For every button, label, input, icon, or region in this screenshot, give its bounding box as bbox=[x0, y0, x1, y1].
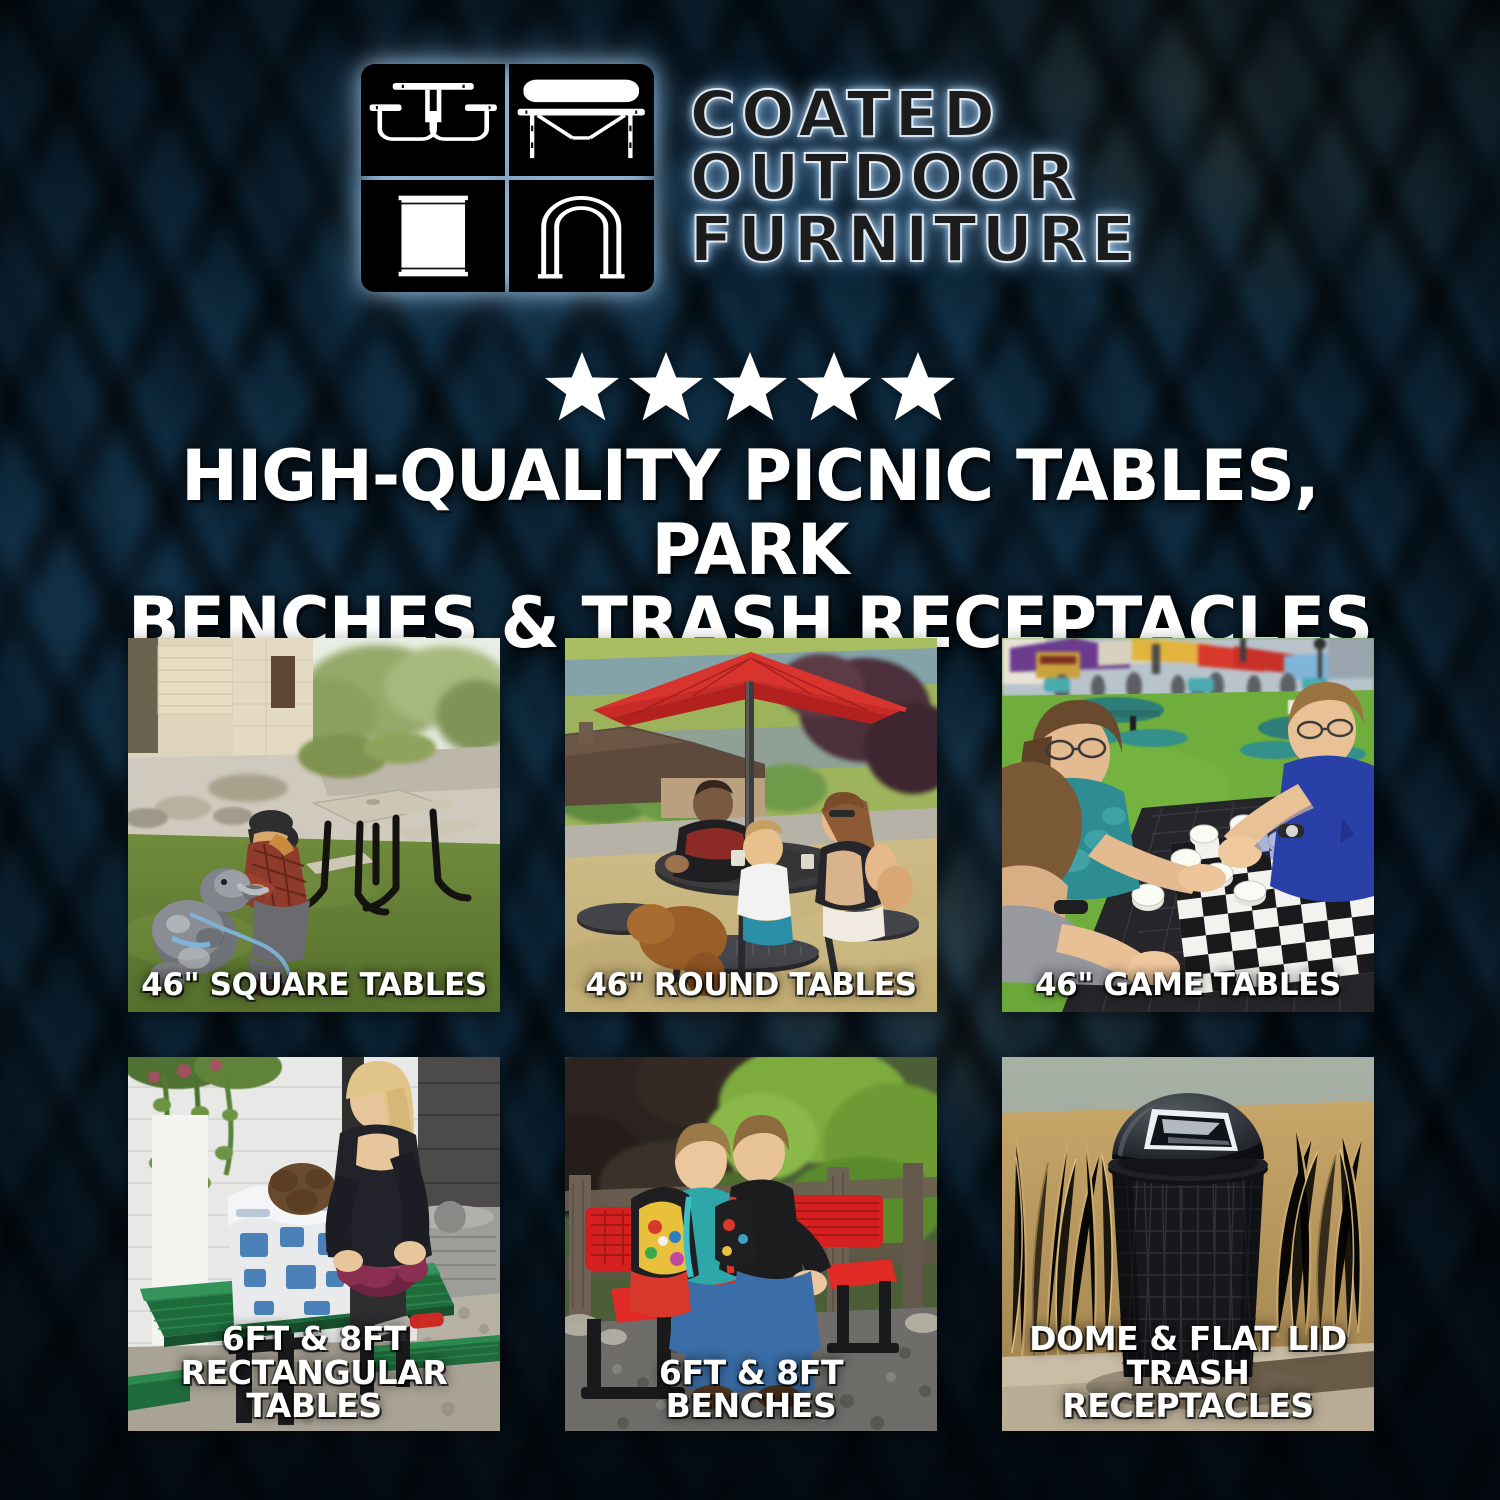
scene-square-tables bbox=[128, 638, 500, 1012]
logo-mark bbox=[361, 64, 654, 292]
product-tile-trash-receptacles[interactable]: DOME & FLAT LID TRASH RECEPTACLES bbox=[1002, 1057, 1374, 1431]
star-icon bbox=[629, 352, 703, 423]
star-icon bbox=[545, 352, 619, 423]
headline-line1: HIGH-QUALITY PICNIC TABLES, PARK bbox=[81, 440, 1420, 587]
product-caption-line2: RECTANGULAR TABLES bbox=[134, 1356, 494, 1423]
product-caption-line1: 46" SQUARE TABLES bbox=[141, 967, 487, 1003]
picnic-table-icon bbox=[361, 64, 506, 176]
product-caption: 46" SQUARE TABLES bbox=[134, 970, 494, 1002]
product-caption-line1: 46" GAME TABLES bbox=[1035, 967, 1341, 1003]
brand-wordmark: COATED OUTDOOR FURNITURE bbox=[690, 85, 1140, 270]
brand-name-line3: FURNITURE bbox=[690, 210, 1140, 270]
product-tile-benches[interactable]: 6FT & 8FT BENCHES bbox=[565, 1057, 937, 1431]
product-caption: DOME & FLAT LID TRASH RECEPTACLES bbox=[1008, 1322, 1368, 1423]
product-tile-round-tables[interactable]: 46" ROUND TABLES bbox=[565, 638, 937, 1012]
scene-game-tables bbox=[1002, 638, 1374, 1012]
brand-name-line2: OUTDOOR bbox=[690, 148, 1140, 208]
product-grid: 46" SQUARE TABLES bbox=[128, 638, 1372, 1431]
product-caption-line1: 46" ROUND TABLES bbox=[585, 967, 916, 1003]
scene-round-tables bbox=[565, 638, 937, 1012]
product-tile-rectangular-tables[interactable]: 6FT & 8FT RECTANGULAR TABLES bbox=[128, 1057, 500, 1431]
product-caption-line2: BENCHES bbox=[571, 1389, 931, 1423]
brand-logo: COATED OUTDOOR FURNITURE bbox=[0, 64, 1500, 292]
bench-icon bbox=[509, 64, 654, 176]
bike-rack-arch-icon bbox=[509, 180, 654, 292]
page-title: HIGH-QUALITY PICNIC TABLES, PARK BENCHES… bbox=[81, 440, 1420, 661]
star-icon bbox=[713, 352, 787, 423]
product-tile-game-tables[interactable]: 46" GAME TABLES bbox=[1002, 638, 1374, 1012]
star-icon bbox=[797, 352, 871, 423]
star-icon bbox=[881, 352, 955, 423]
product-caption-line2: TRASH RECEPTACLES bbox=[1008, 1356, 1368, 1423]
product-caption: 6FT & 8FT BENCHES bbox=[571, 1356, 931, 1423]
product-caption: 46" ROUND TABLES bbox=[571, 970, 931, 1002]
star-rating bbox=[0, 352, 1500, 433]
product-tile-square-tables[interactable]: 46" SQUARE TABLES bbox=[128, 638, 500, 1012]
product-caption: 6FT & 8FT RECTANGULAR TABLES bbox=[134, 1322, 494, 1423]
trash-receptacle-icon bbox=[361, 180, 506, 292]
brand-name-line1: COATED bbox=[690, 85, 1140, 145]
product-caption: 46" GAME TABLES bbox=[1008, 970, 1368, 1002]
